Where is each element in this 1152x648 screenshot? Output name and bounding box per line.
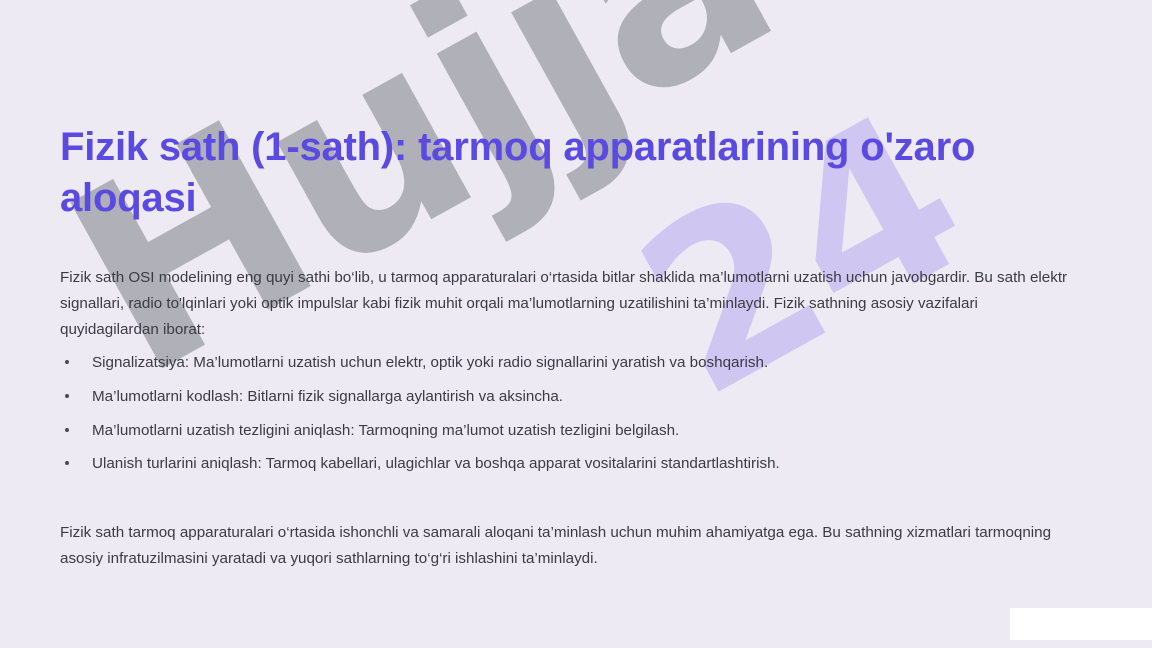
list-item-label: Signalizatsiya: Ma’lumotlarni uzatish uc… xyxy=(92,354,768,371)
list-item: Ma’lumotlarni kodlash: Bitlarni fizik si… xyxy=(60,386,1080,409)
bullet-dot-icon xyxy=(65,461,69,465)
list-item-label: Ma’lumotlarni uzatish tezligini aniqlash… xyxy=(92,422,679,439)
slide-content: Fizik sath (1-sath): tarmoq apparatlarin… xyxy=(0,0,1152,648)
list-item-label: Ulanish turlarini aniqlash: Tarmoq kabel… xyxy=(92,455,780,472)
bottom-right-panel xyxy=(1010,608,1152,640)
bullet-list: Signalizatsiya: Ma’lumotlarni uzatish uc… xyxy=(60,352,1080,487)
intro-paragraph: Fizik sath OSI modelining eng quyi sathi… xyxy=(60,265,1080,343)
bullet-dot-icon xyxy=(65,360,69,364)
bullet-dot-icon xyxy=(65,394,69,398)
bullet-dot-icon xyxy=(65,428,69,432)
slide-title: Fizik sath (1-sath): tarmoq apparatlarin… xyxy=(60,122,1060,224)
list-item-label: Ma’lumotlarni kodlash: Bitlarni fizik si… xyxy=(92,388,563,405)
list-item: Signalizatsiya: Ma’lumotlarni uzatish uc… xyxy=(60,352,1080,375)
slide-canvas: Hujjat 24 Fizik sath (1-sath): tarmoq ap… xyxy=(0,0,1152,648)
closing-paragraph: Fizik sath tarmoq apparaturalari o‘rtasi… xyxy=(60,520,1080,572)
list-item: Ma’lumotlarni uzatish tezligini aniqlash… xyxy=(60,420,1080,443)
list-item: Ulanish turlarini aniqlash: Tarmoq kabel… xyxy=(60,453,1080,476)
